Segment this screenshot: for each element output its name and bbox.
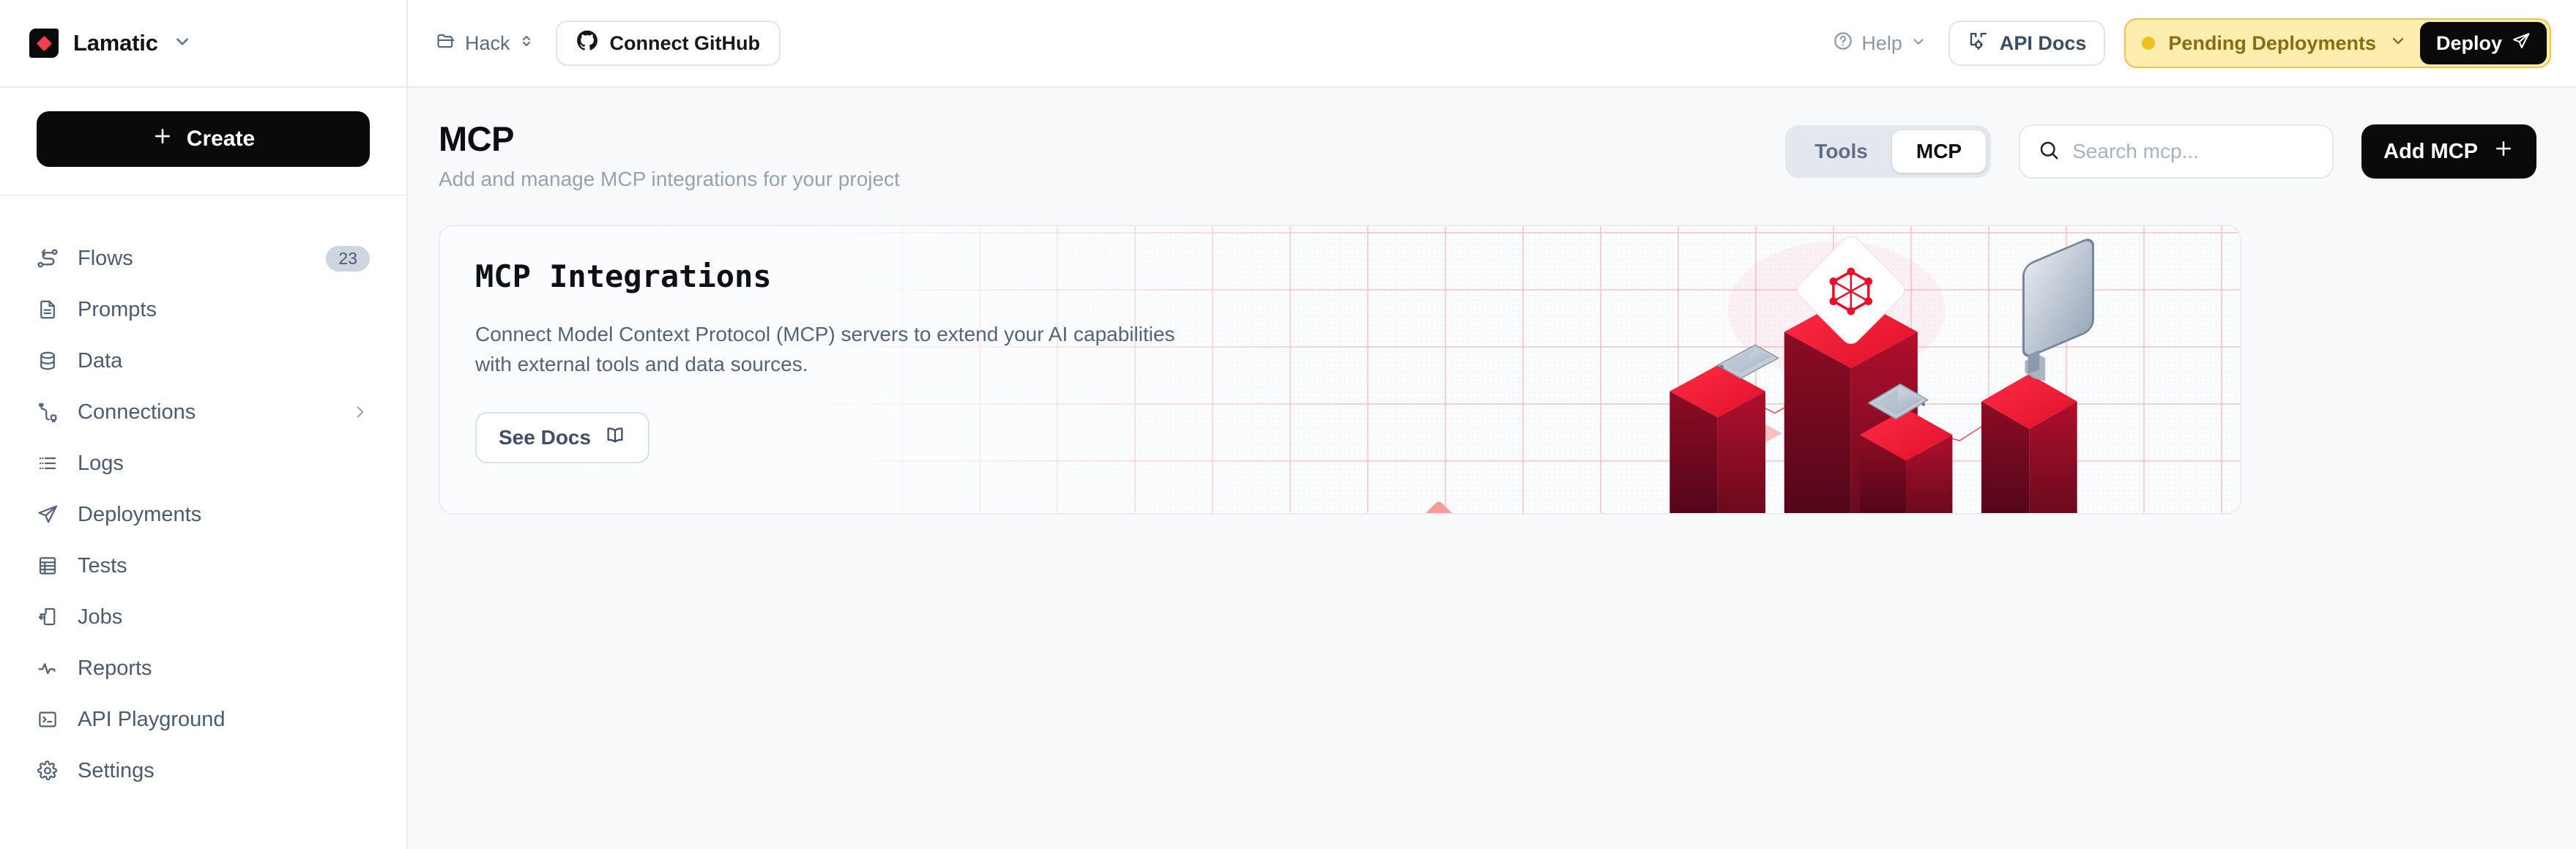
sidebar-item-flows[interactable]: Flows 23 xyxy=(0,233,406,284)
deployments-action-group: Pending Deployments Deploy xyxy=(2124,18,2551,68)
view-tabs: Tools MCP xyxy=(1785,125,1991,178)
sidebar-item-connections[interactable]: Connections xyxy=(0,386,406,438)
page-header-tools: Tools MCP Add MCP xyxy=(1785,119,2536,179)
sidebar-item-label: Deployments xyxy=(78,503,201,527)
send-icon xyxy=(37,504,66,526)
plug-icon xyxy=(37,401,66,423)
sidebar-item-label: Prompts xyxy=(78,298,157,322)
sidebar-item-prompts[interactable]: Prompts xyxy=(0,284,406,335)
project-name: Hack xyxy=(465,32,510,55)
sidebar-item-label: API Playground xyxy=(78,708,226,732)
flows-icon xyxy=(37,247,66,270)
top-bar-actions: Hack Connect GitHub xyxy=(408,0,2576,86)
tab-mcp[interactable]: MCP xyxy=(1892,130,1986,173)
file-upload-icon xyxy=(37,606,66,628)
help-button[interactable]: Help xyxy=(1830,26,1929,61)
sidebar-item-data[interactable]: Data xyxy=(0,335,406,386)
plus-icon xyxy=(2493,138,2514,165)
add-mcp-button[interactable]: Add MCP xyxy=(2361,124,2536,179)
top-bar-right-group: Help API Docs Pending Deployments xyxy=(1830,18,2551,68)
top-bar-left-group: Hack Connect GitHub xyxy=(433,20,781,66)
chevron-up-down-icon xyxy=(519,32,534,55)
sidebar-item-label: Tests xyxy=(78,554,127,578)
sidebar-item-tests[interactable]: Tests xyxy=(0,540,406,591)
github-icon xyxy=(576,30,598,57)
table-icon xyxy=(37,555,66,577)
deploy-label: Deploy xyxy=(2436,32,2502,55)
chevron-down-icon xyxy=(173,32,192,55)
sidebar-item-label: Data xyxy=(78,349,122,373)
api-docs-icon xyxy=(1968,30,1989,57)
page-subtitle: Add and manage MCP integrations for your… xyxy=(439,168,900,191)
sidebar-item-reports[interactable]: Reports xyxy=(0,643,406,694)
search-box[interactable] xyxy=(2019,124,2334,179)
sidebar-item-meta: 23 xyxy=(326,246,370,272)
lamatic-logo-icon xyxy=(29,29,59,58)
page-title: MCP xyxy=(439,119,900,159)
app-root: Lamatic Hack xyxy=(0,0,2576,849)
sidebar-item-deployments[interactable]: Deployments xyxy=(0,489,406,540)
create-section: Create xyxy=(0,88,406,196)
sidebar-item-settings[interactable]: Settings xyxy=(0,745,406,796)
top-bar: Lamatic Hack xyxy=(0,0,2576,88)
terminal-icon xyxy=(37,708,66,730)
sidebar-item-label: Connections xyxy=(78,400,196,424)
sidebar-item-label: Logs xyxy=(78,452,124,476)
folder-icon xyxy=(436,31,456,56)
top-bar-brand-area: Lamatic xyxy=(0,0,408,86)
database-icon xyxy=(37,350,66,372)
sidebar-item-api-playground[interactable]: API Playground xyxy=(0,694,406,745)
sidebar-item-label: Jobs xyxy=(78,605,122,629)
chevron-right-icon[interactable] xyxy=(351,403,370,422)
document-icon xyxy=(37,299,66,321)
sidebar-item-jobs[interactable]: Jobs xyxy=(0,591,406,643)
chevron-down-icon xyxy=(1910,32,1927,55)
sidebar-item-label: Reports xyxy=(78,657,152,681)
connect-github-button[interactable]: Connect GitHub xyxy=(556,20,781,66)
brand-name: Lamatic xyxy=(73,30,158,56)
see-docs-label: See Docs xyxy=(499,426,591,449)
sidebar-item-logs[interactable]: Logs xyxy=(0,438,406,489)
pending-deployments-button[interactable]: Pending Deployments xyxy=(2142,32,2420,55)
connect-github-label: Connect GitHub xyxy=(610,32,760,55)
api-docs-button[interactable]: API Docs xyxy=(1948,20,2106,66)
gear-icon xyxy=(37,760,66,782)
create-button[interactable]: Create xyxy=(37,111,370,167)
mcp-integrations-hero-card: MCP Integrations Connect Model Context P… xyxy=(439,225,2241,515)
flows-count-badge: 23 xyxy=(326,246,370,272)
hero-text-content: MCP Integrations Connect Model Context P… xyxy=(440,226,1304,463)
add-mcp-label: Add MCP xyxy=(2383,140,2478,164)
send-icon xyxy=(2512,31,2531,56)
chevron-down-icon xyxy=(2389,32,2407,55)
hero-title: MCP Integrations xyxy=(475,258,1304,294)
pending-deployments-label: Pending Deployments xyxy=(2168,32,2376,55)
workspace-switcher[interactable]: Lamatic xyxy=(29,29,192,58)
help-label: Help xyxy=(1861,32,1902,55)
app-body: Create Flows 23 Prompts xyxy=(0,88,2576,849)
sidebar-item-label: Flows xyxy=(78,247,133,271)
hero-description: Connect Model Context Protocol (MCP) ser… xyxy=(475,319,1185,380)
isometric-mcp-servers-illustration xyxy=(1616,225,2202,513)
deploy-button[interactable]: Deploy xyxy=(2420,22,2547,64)
question-circle-icon xyxy=(1833,31,1853,56)
api-docs-label: API Docs xyxy=(2000,32,2087,55)
create-label: Create xyxy=(187,127,255,152)
sidebar-nav: Flows 23 Prompts Data xyxy=(0,196,406,796)
search-input[interactable] xyxy=(2072,140,2315,163)
plus-icon xyxy=(152,125,174,153)
status-dot-icon xyxy=(2142,37,2155,50)
activity-icon xyxy=(37,657,66,679)
search-icon xyxy=(2038,139,2060,165)
page-header: MCP Add and manage MCP integrations for … xyxy=(408,88,2576,191)
list-icon xyxy=(37,452,66,474)
main-content: MCP Add and manage MCP integrations for … xyxy=(408,88,2576,849)
sidebar-item-label: Settings xyxy=(78,759,155,783)
sidebar: Create Flows 23 Prompts xyxy=(0,88,408,849)
page-header-text: MCP Add and manage MCP integrations for … xyxy=(439,119,900,191)
book-icon xyxy=(604,424,626,451)
see-docs-button[interactable]: See Docs xyxy=(475,412,649,463)
tab-tools[interactable]: Tools xyxy=(1790,130,1892,173)
project-selector[interactable]: Hack xyxy=(433,26,537,61)
